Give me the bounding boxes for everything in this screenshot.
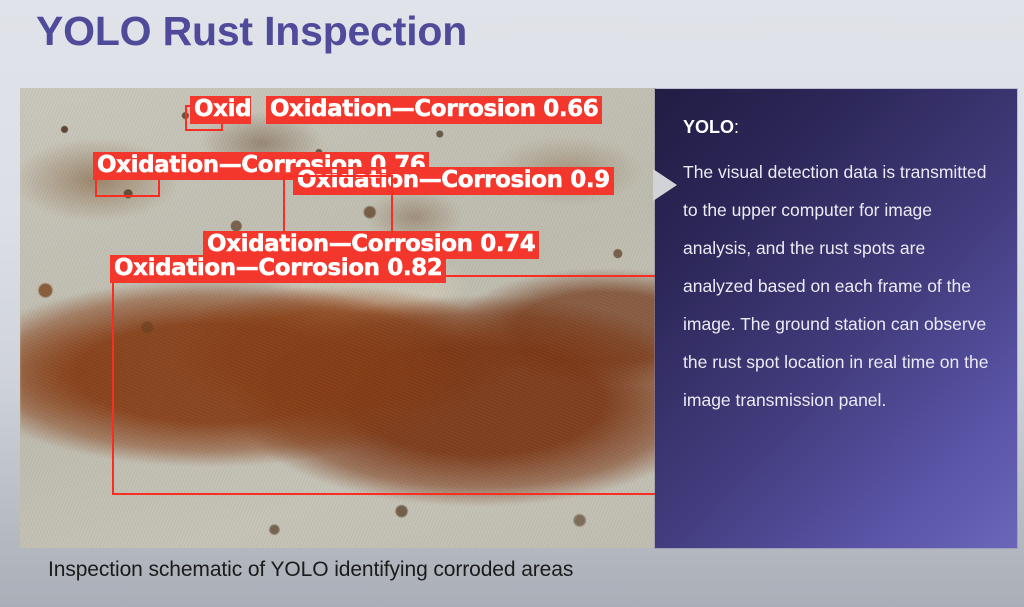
rust-inspection-image: Oxidation—Corrosion 0.66 Oxid Oxidation—…: [20, 88, 656, 548]
detection-label: Oxidation—Corrosion 0.82: [110, 255, 446, 283]
detection-box: [283, 175, 393, 235]
detection-label: Oxid: [190, 96, 251, 124]
info-panel: YOLO: The visual detection data is trans…: [655, 89, 1017, 548]
page-title: YOLO Rust Inspection: [36, 8, 467, 55]
detection-overlay: Oxidation—Corrosion 0.66 Oxid Oxidation—…: [20, 88, 656, 548]
arrow-right-icon: [653, 169, 677, 201]
figure-caption: Inspection schematic of YOLO identifying…: [48, 558, 573, 582]
panel-body-text: The visual detection data is transmitted…: [683, 154, 993, 420]
panel-heading: YOLO:: [683, 117, 993, 138]
detection-box: [112, 275, 656, 495]
panel-heading-label: YOLO: [683, 117, 734, 137]
panel-heading-colon: :: [734, 117, 739, 137]
detection-label: Oxidation—Corrosion 0.66: [266, 96, 602, 124]
